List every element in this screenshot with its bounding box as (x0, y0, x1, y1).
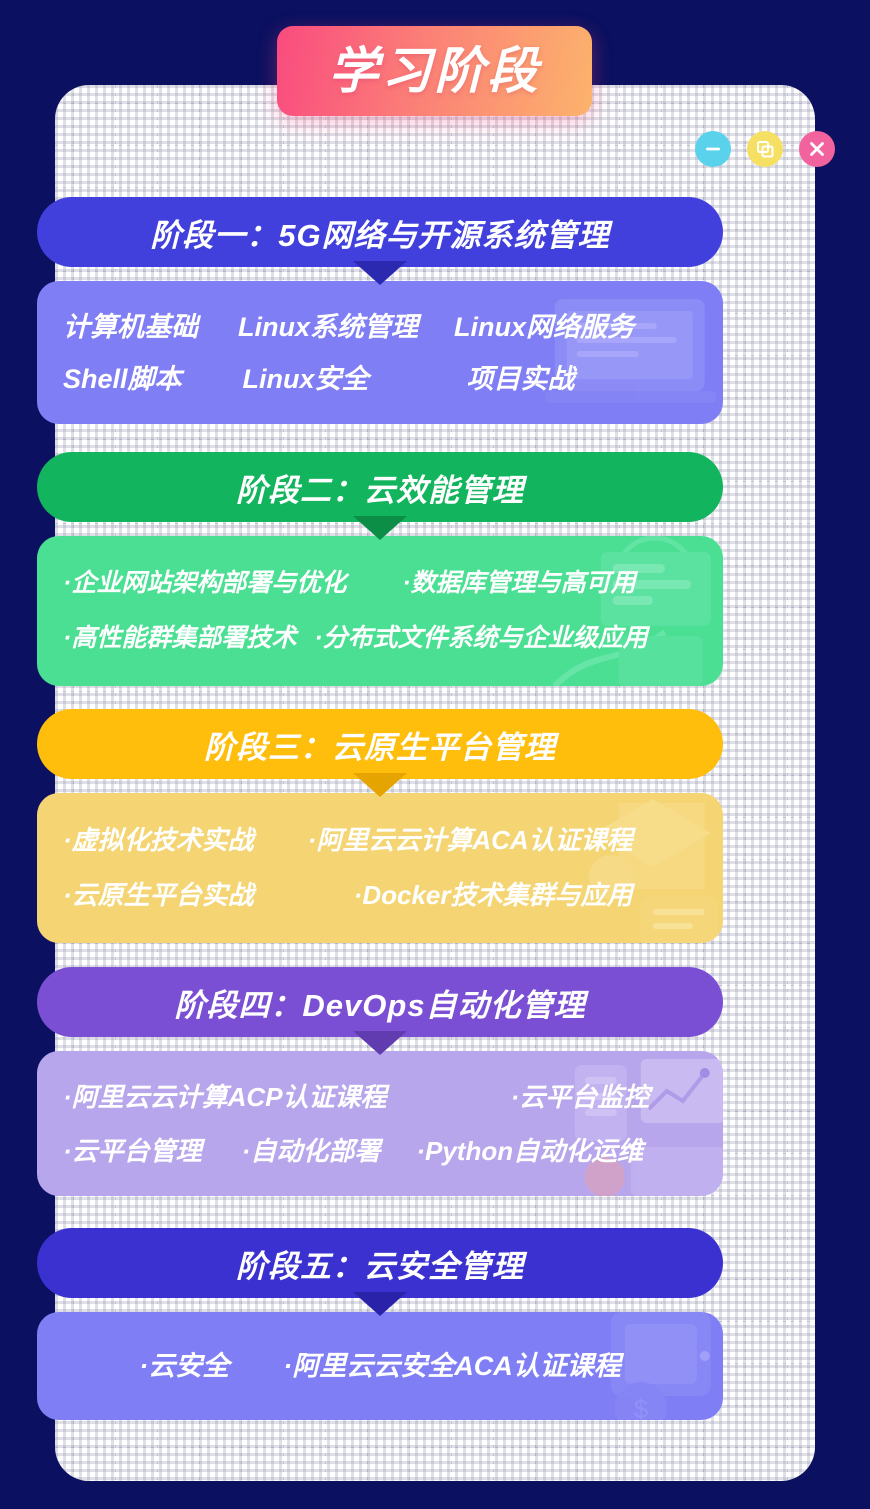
stage-5-title: 阶段五：云安全管理 (236, 1241, 524, 1286)
stage-1-item-4: Shell脚本 (63, 353, 182, 405)
stage-3-body: ·虚拟化技术实战 ·阿里云云计算ACA认证课程 ·云原生平台实战 ·Docker… (37, 793, 723, 943)
stage-5-item-1: ·云安全 (139, 1314, 229, 1418)
stage-1-row-2: Shell脚本 Linux安全 项目实战 (63, 353, 697, 405)
stage-4-header[interactable]: 阶段四：DevOps自动化管理 (37, 967, 723, 1037)
stage-1-title: 阶段一：5G网络与开源系统管理 (150, 210, 609, 255)
window-controls (695, 131, 835, 167)
stage-3-row-2: ·云原生平台实战 ·Docker技术集群与应用 (63, 868, 697, 923)
stage-3-arrow-icon (353, 773, 407, 797)
stage-5-row-1: ·云安全 ·阿里云云安全ACA认证课程 (63, 1314, 697, 1418)
stage-4-row-1: ·阿里云云计算ACP认证课程 ·云平台监控 (63, 1070, 697, 1124)
stage-block-1: 阶段一：5G网络与开源系统管理 计算机基础 Linux系统管理 (37, 197, 723, 424)
stage-1-item-1: 计算机基础 (63, 301, 198, 353)
stage-3-header[interactable]: 阶段三：云原生平台管理 (37, 709, 723, 779)
stage-5-arrow-icon (353, 1292, 407, 1316)
minus-icon (704, 140, 722, 158)
grid-horizontal-line (55, 1447, 815, 1448)
stage-4-item-1: ·阿里云云计算ACP认证课程 (63, 1070, 387, 1124)
stage-3-item-3: ·云原生平台实战 (63, 868, 254, 923)
close-button[interactable] (799, 131, 835, 167)
stage-2-header[interactable]: 阶段二：云效能管理 (37, 452, 723, 522)
grid-horizontal-line (55, 691, 815, 692)
stage-4-row-2: ·云平台管理 ·自动化部署 ·Python自动化运维 (63, 1124, 697, 1178)
stage-3-row-1: ·虚拟化技术实战 ·阿里云云计算ACA认证课程 (63, 813, 697, 868)
stage-2-body: ·企业网站架构部署与优化 ·数据库管理与高可用 ·高性能群集部署技术 ·分布式文… (37, 536, 723, 686)
stage-2-arrow-icon (353, 516, 407, 540)
stage-1-items: 计算机基础 Linux系统管理 Linux网络服务 Shell脚本 Linux安… (37, 301, 723, 405)
stage-3-item-1: ·虚拟化技术实战 (63, 813, 254, 868)
stage-1-body: 计算机基础 Linux系统管理 Linux网络服务 Shell脚本 Linux安… (37, 281, 723, 424)
close-icon (808, 140, 826, 158)
restore-window-icon (755, 139, 775, 159)
stage-2-item-1: ·企业网站架构部署与优化 (63, 556, 346, 611)
stage-1-item-6: 项目实战 (467, 353, 575, 405)
stage-2-title: 阶段二：云效能管理 (236, 465, 524, 510)
grid-horizontal-line (55, 187, 815, 188)
stage-3-item-2: ·阿里云云计算ACA认证课程 (308, 813, 633, 868)
stage-2-item-4: ·分布式文件系统与企业级应用 (314, 611, 647, 666)
page-title: 学习阶段 (329, 46, 541, 96)
stage-2-row-2: ·高性能群集部署技术 ·分布式文件系统与企业级应用 (63, 611, 697, 666)
stage-2-row-1: ·企业网站架构部署与优化 ·数据库管理与高可用 (63, 556, 697, 611)
stage-5-header[interactable]: 阶段五：云安全管理 (37, 1228, 723, 1298)
stage-block-3: 阶段三：云原生平台管理 ·虚拟化技术实战 ·阿里云云计算ACA认证课程 (37, 709, 723, 943)
stage-1-row-1: 计算机基础 Linux系统管理 Linux网络服务 (63, 301, 697, 353)
stage-block-2: 阶段二：云效能管理 ·企业网站架构部署与优化 ·数据库 (37, 452, 723, 686)
stage-4-item-2: ·云平台监控 (511, 1070, 650, 1124)
stage-2-item-3: ·高性能群集部署技术 (63, 611, 296, 666)
stage-4-body: ·阿里云云计算ACP认证课程 ·云平台监控 ·云平台管理 ·自动化部署 ·Pyt… (37, 1051, 723, 1196)
stage-4-item-4: ·自动化部署 (242, 1124, 381, 1178)
grid-vertical-line (787, 85, 788, 1481)
stage-4-item-3: ·云平台管理 (63, 1124, 202, 1178)
grid-horizontal-line (55, 943, 815, 944)
stage-4-title: 阶段四：DevOps自动化管理 (174, 980, 585, 1025)
stage-1-item-5: Linux安全 (243, 353, 369, 405)
stage-1-arrow-icon (353, 261, 407, 285)
stage-2-item-2: ·数据库管理与高可用 (402, 556, 635, 611)
maximize-button[interactable] (747, 131, 783, 167)
stage-5-items: ·云安全 ·阿里云云安全ACA认证课程 (37, 1314, 723, 1418)
stage-2-items: ·企业网站架构部署与优化 ·数据库管理与高可用 ·高性能群集部署技术 ·分布式文… (37, 556, 723, 666)
grid-vertical-line (745, 85, 746, 1481)
minimize-button[interactable] (695, 131, 731, 167)
stage-1-item-2: Linux系统管理 (238, 301, 418, 353)
stage-3-title: 阶段三：云原生平台管理 (204, 722, 556, 767)
stage-1-item-3: Linux网络服务 (454, 301, 634, 353)
stage-block-5: 阶段五：云安全管理 $ ·云安全 ·阿里云云安全ACA认证课程 (37, 1228, 723, 1420)
page-title-badge: 学习阶段 (277, 26, 592, 116)
stage-5-item-2: ·阿里云云安全ACA认证课程 (283, 1314, 621, 1418)
stage-1-header[interactable]: 阶段一：5G网络与开源系统管理 (37, 197, 723, 267)
poster-root: 学习阶段 阶段一：5G网络与开源系统管 (0, 0, 870, 1509)
stage-3-item-4: ·Docker技术集群与应用 (354, 868, 633, 923)
stage-4-arrow-icon (353, 1031, 407, 1055)
grid-horizontal-line (55, 439, 815, 440)
stage-4-items: ·阿里云云计算ACP认证课程 ·云平台监控 ·云平台管理 ·自动化部署 ·Pyt… (37, 1070, 723, 1178)
stage-5-body: $ ·云安全 ·阿里云云安全ACA认证课程 (37, 1312, 723, 1420)
stage-block-4: 阶段四：DevOps自动化管理 ·阿里云云计算ACP (37, 967, 723, 1196)
stage-3-items: ·虚拟化技术实战 ·阿里云云计算ACA认证课程 ·云原生平台实战 ·Docker… (37, 813, 723, 923)
stage-4-item-5: ·Python自动化运维 (416, 1124, 643, 1178)
